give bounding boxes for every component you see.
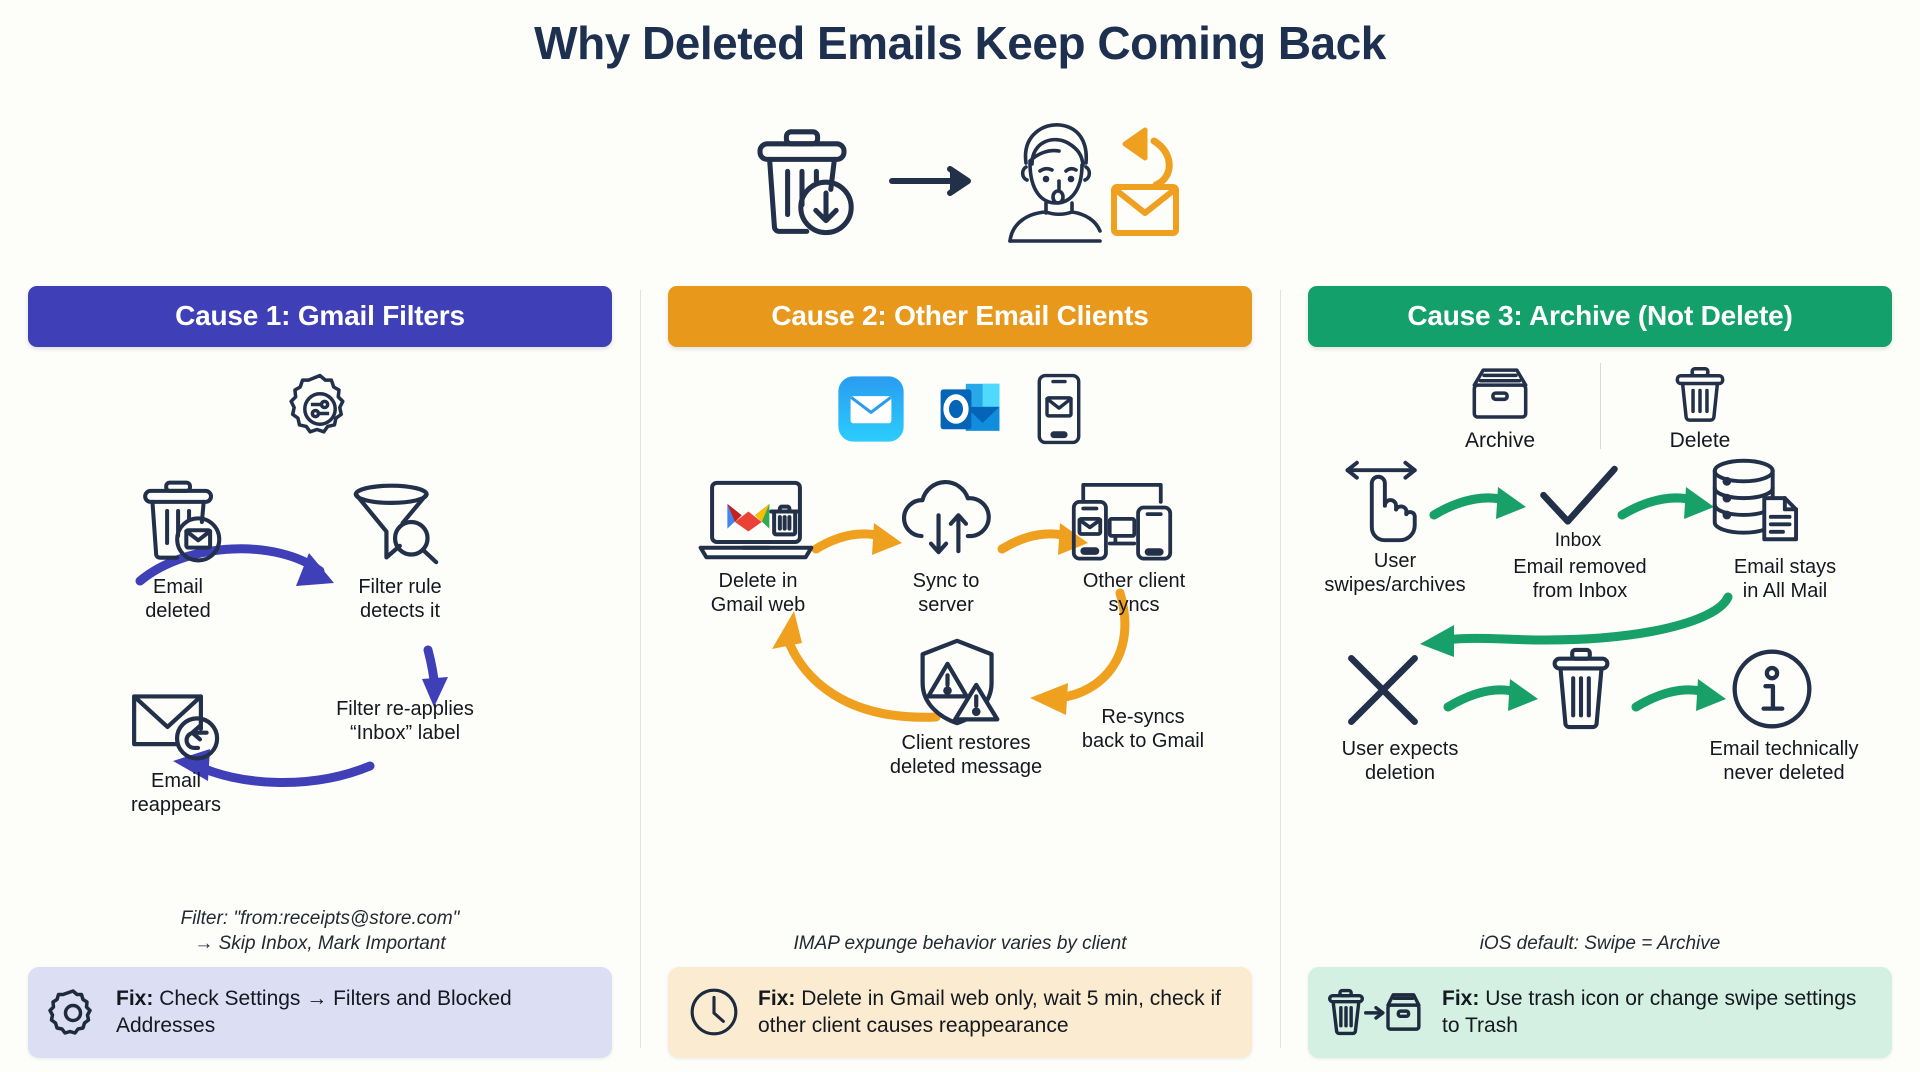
- clock-icon: [688, 986, 740, 1038]
- cause-2-node-1-label: Delete inGmail web: [670, 569, 846, 618]
- fix-box-cause-3[interactable]: Fix: Use trash icon or change swipe sett…: [1308, 967, 1892, 1058]
- envelope-reply-icon: [128, 685, 228, 767]
- hero-illustration: [0, 106, 1920, 256]
- outlook-app-icon: [935, 374, 1005, 444]
- cause-3-top-icons: Archive Delete: [1308, 361, 1892, 457]
- cause-3-node-3-label: Email staysin All Mail: [1690, 555, 1880, 604]
- x-mark-icon: [1342, 649, 1424, 731]
- header-cause-1: Cause 1: Gmail Filters: [28, 286, 612, 347]
- delete-label: Delete: [1600, 429, 1800, 453]
- gear-icon: [48, 987, 98, 1037]
- laptop-gmail-trash-icon: [698, 479, 814, 563]
- cause-3-node-6-label: Email technicallynever deleted: [1664, 737, 1904, 786]
- column-cause-3: Cause 3: Archive (Not Delete) Archive: [1280, 286, 1920, 1072]
- archive-option: Archive: [1400, 365, 1600, 453]
- delete-option: Delete: [1600, 365, 1800, 453]
- column-cause-1: Cause 1: Gmail Filters: [0, 286, 640, 1072]
- filter-search-icon: [348, 479, 444, 565]
- flow-arrow-g5-head: [1696, 679, 1726, 711]
- cause-3-flow: Userswipes/archives Inbox Email removedf…: [1308, 457, 1892, 932]
- fix-box-cause-1[interactable]: Fix: Check Settings → Filters and Blocke…: [28, 967, 612, 1058]
- page-title: Why Deleted Emails Keep Coming Back: [0, 16, 1920, 70]
- fix-box-cause-2[interactable]: Fix: Delete in Gmail web only, wait 5 mi…: [668, 967, 1252, 1058]
- column-cause-2: Cause 2: Other Email Clients: [640, 286, 1280, 1072]
- header-cause-3: Cause 3: Archive (Not Delete): [1308, 286, 1892, 347]
- arrow-right-icon: [888, 161, 978, 201]
- cause-columns: Cause 1: Gmail Filters: [0, 286, 1920, 1072]
- archive-label: Archive: [1400, 429, 1600, 453]
- settings-gear-sliders-icon: [282, 371, 358, 447]
- info-circle-icon: [1730, 647, 1814, 731]
- top-icons-divider: [1600, 363, 1601, 449]
- cloud-sync-icon: [896, 477, 1000, 563]
- cause-3-note: iOS default: Swipe = Archive: [1480, 932, 1721, 957]
- cause-3-node-2-label: Email removedfrom Inbox: [1480, 555, 1680, 604]
- header-cause-2: Cause 2: Other Email Clients: [668, 286, 1252, 347]
- phone-mail-icon: [1035, 373, 1083, 445]
- trash-with-down-arrow-icon: [742, 121, 862, 241]
- trash-icon: [1550, 647, 1612, 731]
- fix-text-cause-3: Fix: Use trash icon or change swipe sett…: [1442, 985, 1872, 1040]
- cause-1-node-2-label: Filter ruledetects it: [300, 575, 500, 624]
- cause-1-flow: Emaildeleted Filter ruledetects it: [28, 457, 612, 907]
- cause-1-node-1-label: Emaildeleted: [88, 575, 268, 624]
- trash-email-icon: [133, 479, 225, 565]
- cause-2-note: IMAP expunge behavior varies by client: [793, 932, 1126, 957]
- cause-3-node-4-label: User expectsdeletion: [1300, 737, 1500, 786]
- cause-2-node-2-label: Sync toserver: [866, 569, 1026, 618]
- cause-1-node-4-label: Emailreappears: [76, 769, 276, 818]
- cause-1-top-icons: [282, 361, 358, 457]
- cause-2-flow: Delete inGmail web Sync toserver: [668, 457, 1252, 932]
- cause-2-node-5-label: Client restoresdeleted message: [846, 731, 1086, 780]
- database-document-icon: [1708, 457, 1800, 543]
- trash-to-archive-icon: [1328, 986, 1424, 1038]
- cause-3-node-1-label: Userswipes/archives: [1290, 549, 1500, 598]
- cause-1-note: Filter: "from:receipts@store.com" → Skip…: [181, 907, 460, 956]
- swipe-hand-icon: [1340, 459, 1426, 543]
- surprised-person-with-returning-email-icon: [1004, 119, 1179, 244]
- infographic-canvas: Why Deleted Emails Keep Coming Back: [0, 0, 1920, 1072]
- archive-box-icon: [1400, 365, 1600, 423]
- fix-text-cause-1: Fix: Check Settings → Filters and Blocke…: [116, 985, 592, 1040]
- apple-mail-app-icon: [837, 375, 905, 443]
- trash-icon: [1600, 365, 1800, 423]
- cause-1-node-3-label: Filter re-applies“Inbox” label: [280, 697, 530, 746]
- shield-warning-icon: [913, 637, 1005, 727]
- fix-text-cause-2: Fix: Delete in Gmail web only, wait 5 mi…: [758, 985, 1232, 1040]
- multi-device-sync-icon: [1070, 469, 1174, 565]
- checkmark-icon: [1536, 463, 1622, 533]
- cause-3-node-2-caption: Inbox: [1508, 529, 1648, 552]
- cause-2-top-icons: [837, 361, 1083, 457]
- flow-arrow-g3-head: [1420, 625, 1454, 657]
- flow-arrow-g1-head: [1496, 487, 1526, 519]
- cause-2-node-3-label: Other clientsyncs: [1046, 569, 1222, 618]
- flow-arrow-g4-head: [1508, 679, 1538, 711]
